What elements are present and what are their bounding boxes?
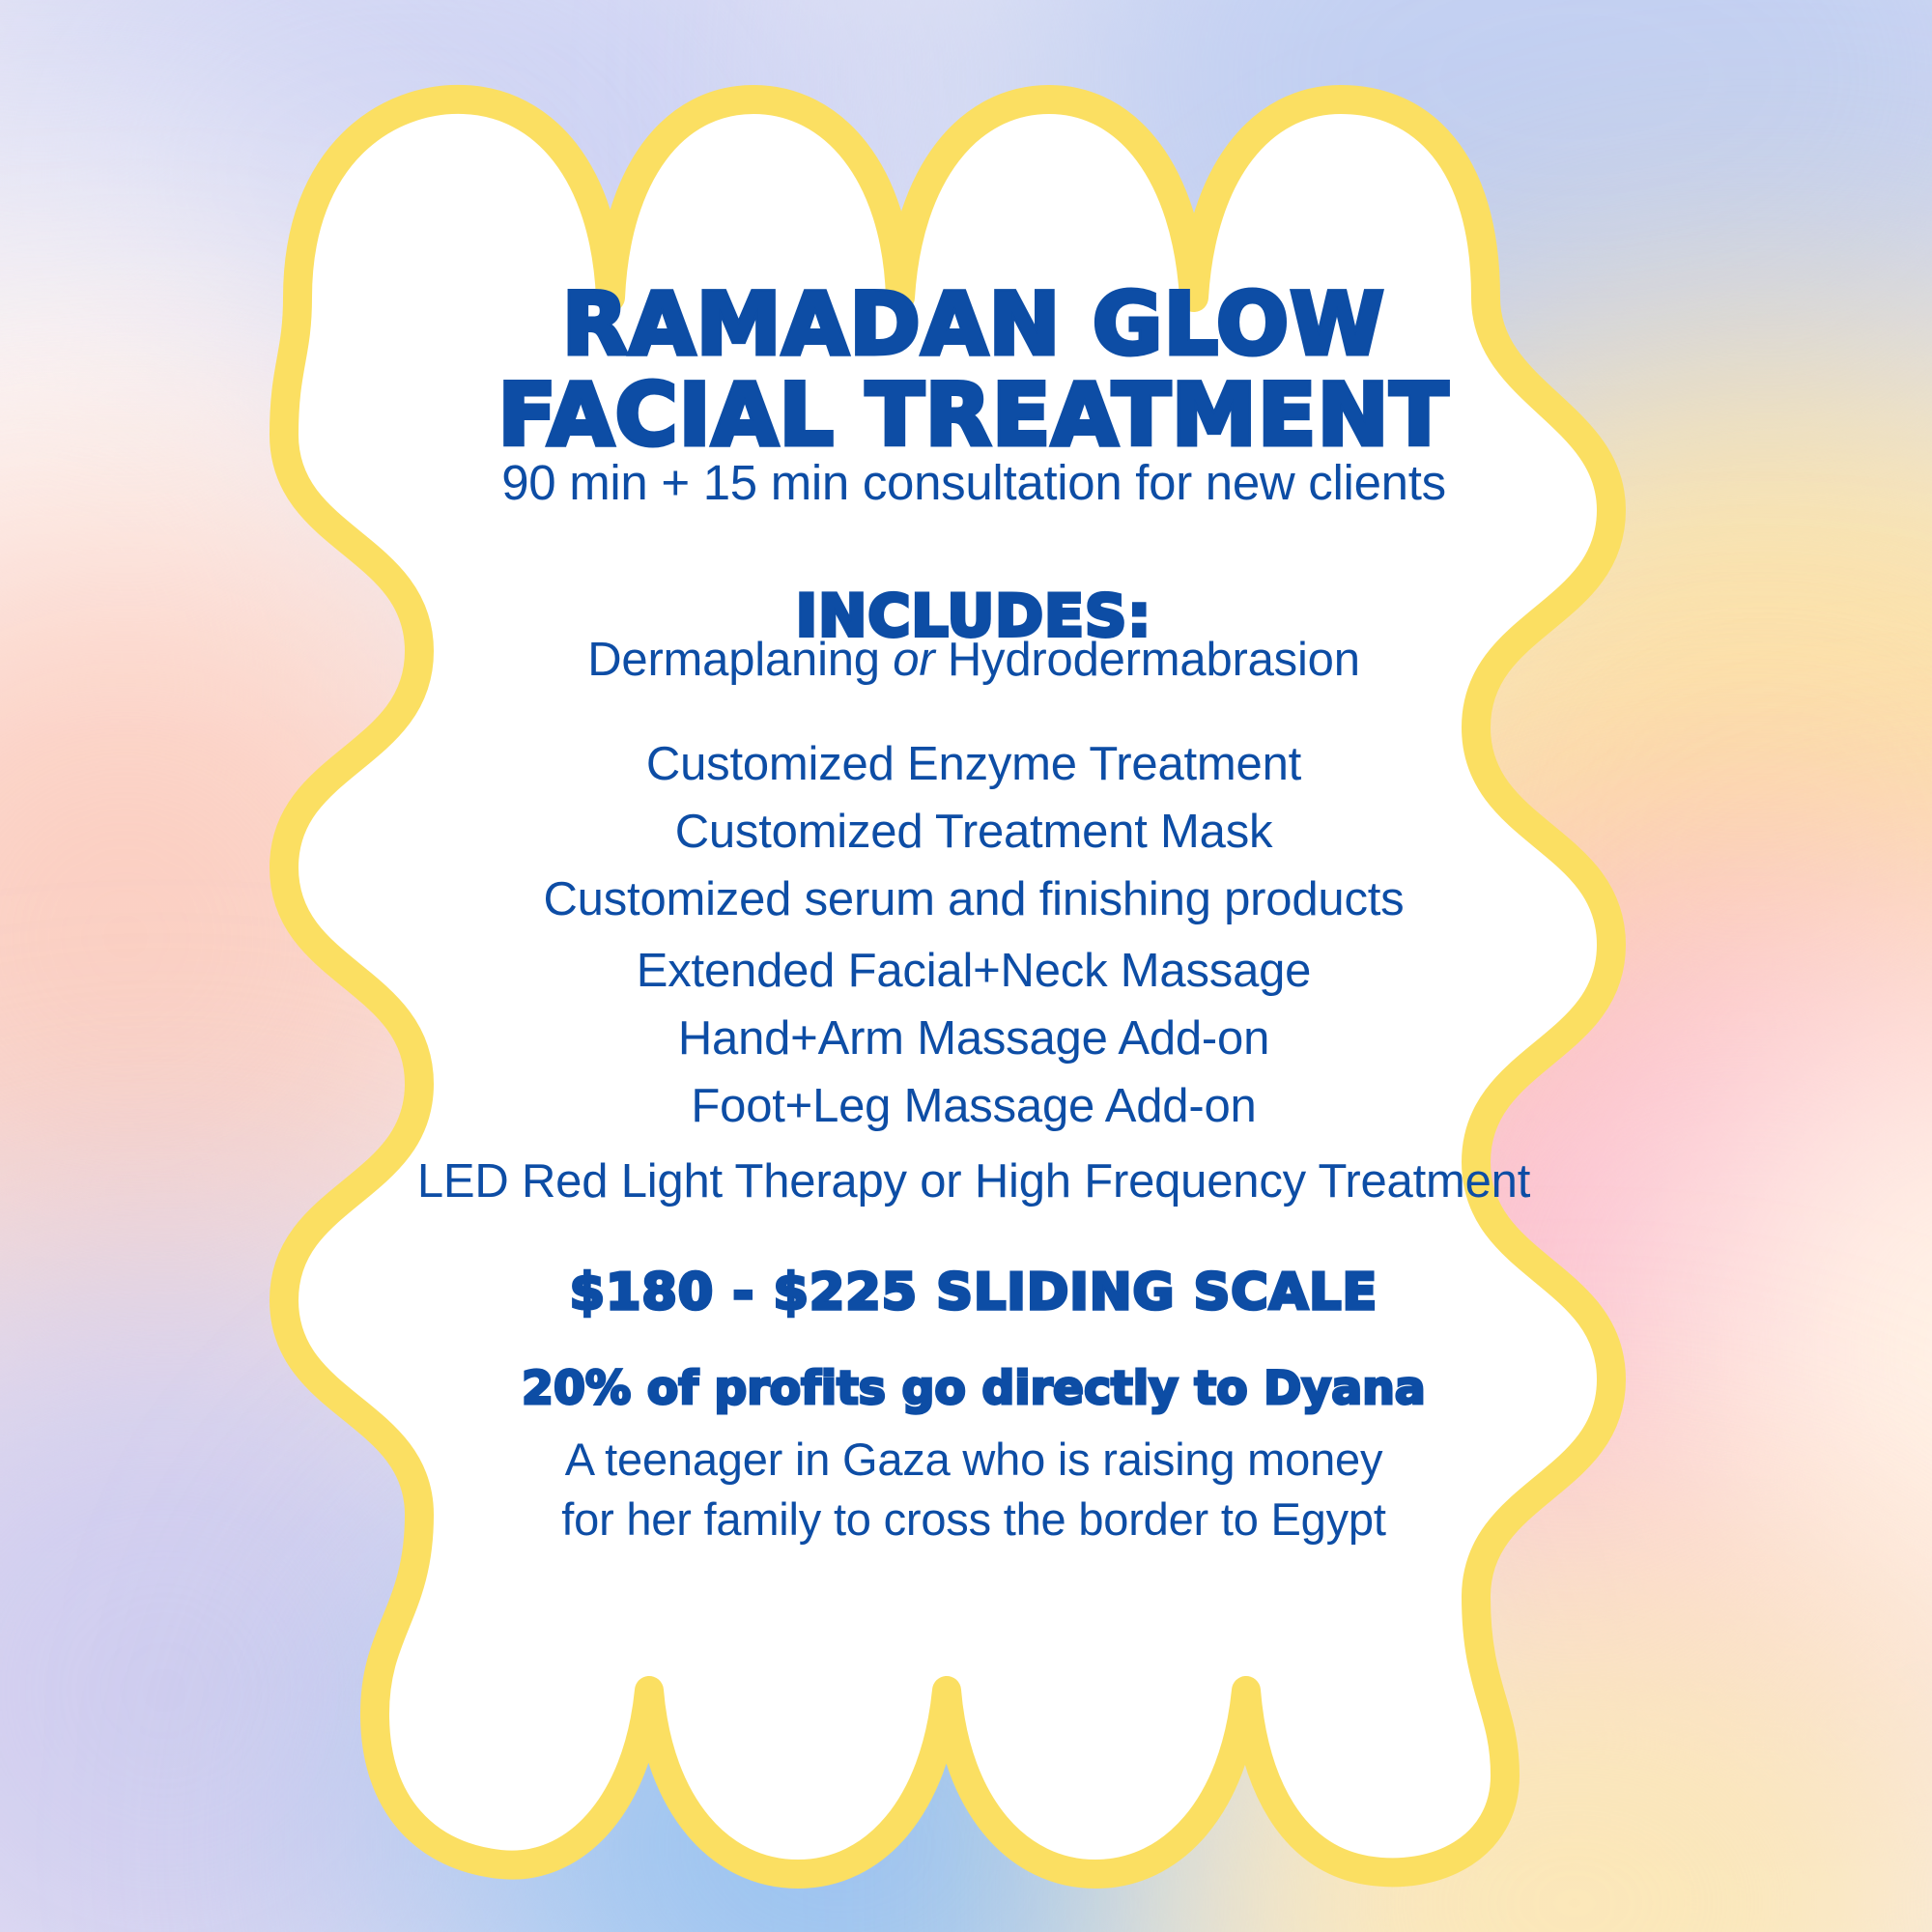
list-item: Extended Facial+Neck Massage (220, 937, 1727, 1005)
dermaplaning-pre: Dermaplaning (587, 634, 893, 686)
list-item: Foot+Leg Massage Add-on (220, 1072, 1727, 1140)
donation-line-2: for her family to cross the border to Eg… (220, 1490, 1727, 1549)
includes-group-massage: Extended Facial+Neck Massage Hand+Arm Ma… (220, 937, 1727, 1140)
price-sliding-scale: $180 - $225 SLIDING SCALE (220, 1264, 1727, 1321)
poster-canvas: RAMADAN GLOW FACIAL TREATMENT 90 min + 1… (0, 0, 1932, 1932)
list-item: Customized serum and finishing products (220, 866, 1727, 933)
wavy-card: RAMADAN GLOW FACIAL TREATMENT 90 min + 1… (220, 8, 1727, 1928)
list-item: Customized Treatment Mask (220, 798, 1727, 866)
title-line-2: FACIAL TREATMENT (220, 370, 1727, 461)
includes-group-customized: Customized Enzyme Treatment Customized T… (220, 730, 1727, 933)
poster-content: RAMADAN GLOW FACIAL TREATMENT 90 min + 1… (220, 8, 1727, 1928)
list-item: Customized Enzyme Treatment (220, 730, 1727, 798)
title-line-1: RAMADAN GLOW (220, 279, 1727, 370)
includes-group-light-therapy: LED Red Light Therapy or High Frequency … (220, 1148, 1727, 1215)
dermaplaning-or: or (893, 634, 934, 686)
dermaplaning-post: Hydrodermabrasion (934, 634, 1359, 686)
donation-description: A teenager in Gaza who is raising money … (220, 1430, 1727, 1549)
includes-group-exfoliation: Dermaplaning or Hydrodermabrasion (220, 626, 1727, 694)
list-item: Dermaplaning or Hydrodermabrasion (220, 626, 1727, 694)
donation-heading: 20% of profits go directly to Dyana (220, 1362, 1727, 1415)
subtitle-duration: 90 min + 15 min consultation for new cli… (220, 455, 1727, 511)
page-title: RAMADAN GLOW FACIAL TREATMENT (220, 279, 1727, 461)
donation-line-1: A teenager in Gaza who is raising money (220, 1430, 1727, 1490)
list-item: LED Red Light Therapy or High Frequency … (220, 1148, 1727, 1215)
list-item: Hand+Arm Massage Add-on (220, 1005, 1727, 1072)
